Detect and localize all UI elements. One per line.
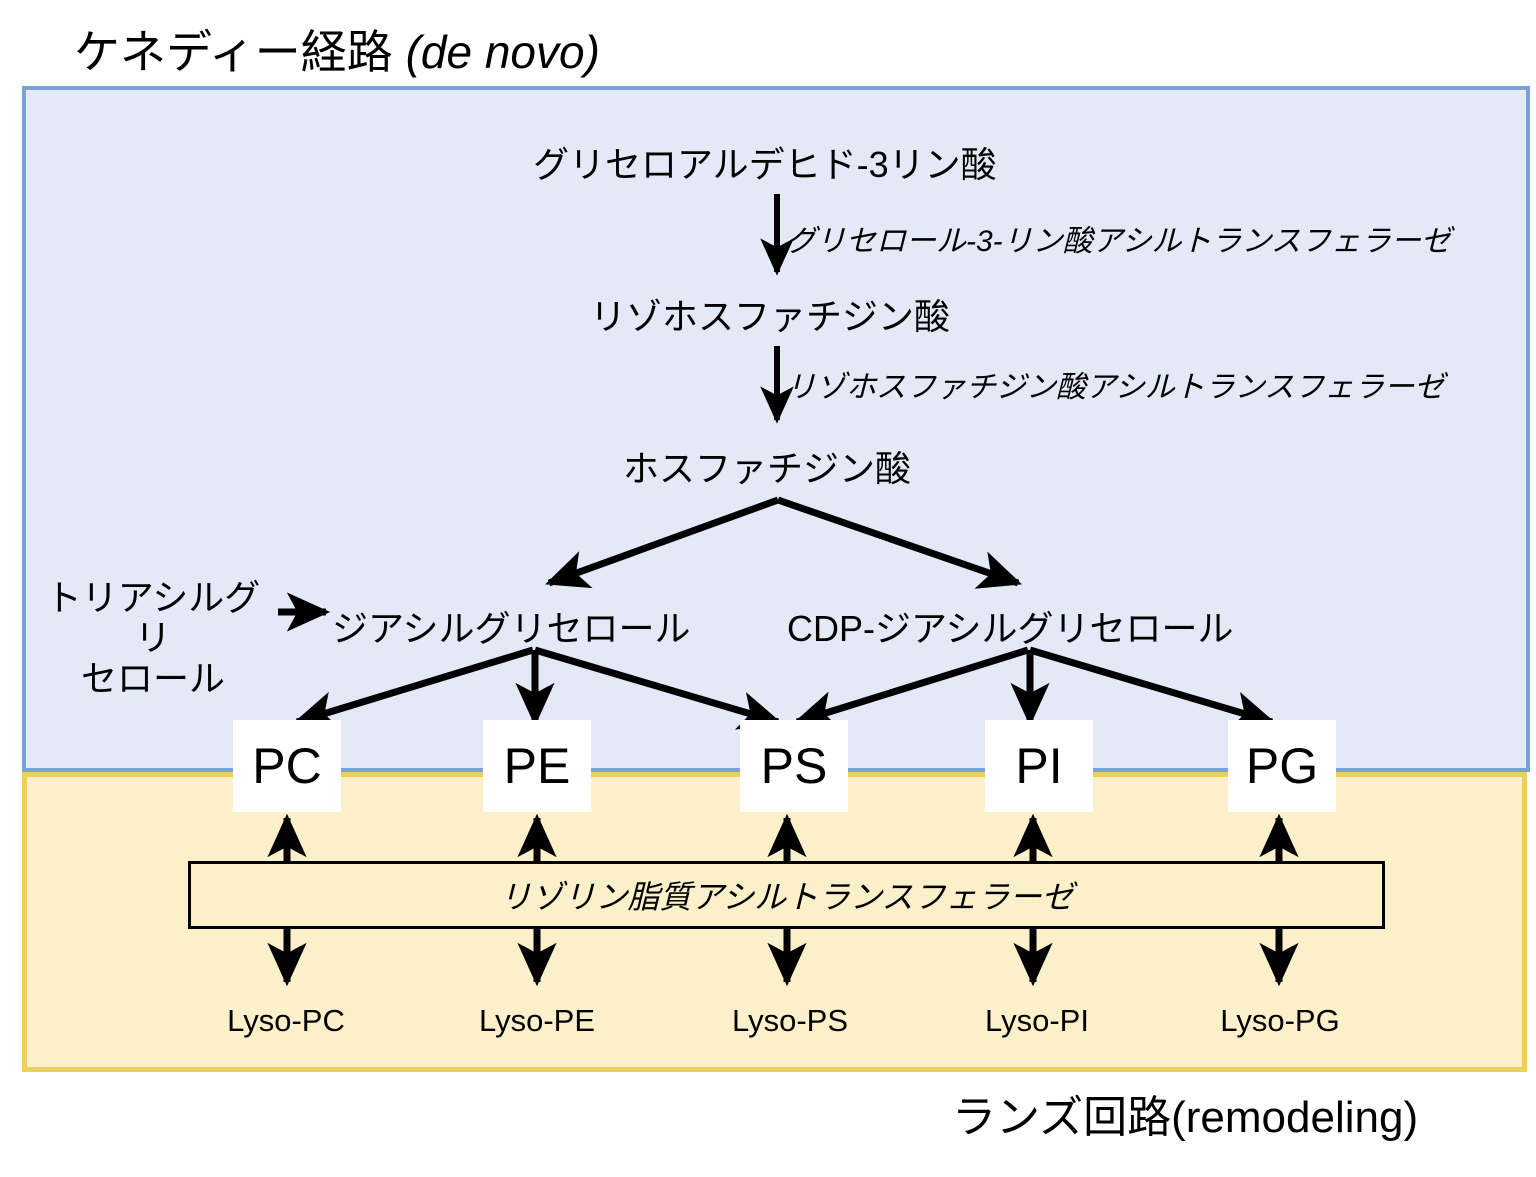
phospholipid-box-pg: PG: [1228, 720, 1336, 812]
metabolite-triacylglycerol: トリアシルグリ セロール: [28, 578, 278, 699]
metabolite-lyso-pe: Lyso-PE: [437, 1003, 637, 1039]
metabolite-triacylglycerol-line1: トリアシルグリ: [28, 578, 278, 659]
metabolite-lyso-pc: Lyso-PC: [186, 1003, 386, 1039]
metabolite-phosphatidic-acid: ホスファチジン酸: [623, 440, 911, 492]
enzyme-box-lplat: リゾリン脂質アシルトランスフェラーゼ: [188, 861, 1385, 929]
kennedy-pathway-title: ケネディー経路 (de novo): [74, 16, 600, 82]
metabolite-glyceraldehyde-3-phosphate: グリセロアルデヒド-3リン酸: [533, 136, 997, 188]
metabolite-lyso-pg: Lyso-PG: [1180, 1003, 1380, 1039]
metabolite-lyso-pi: Lyso-PI: [937, 1003, 1137, 1039]
metabolite-lysophosphatidic-acid: リゾホスファチジン酸: [590, 288, 950, 340]
phospholipid-box-pi: PI: [985, 720, 1093, 812]
metabolite-diacylglycerol: ジアシルグリセロール: [332, 600, 691, 652]
metabolite-triacylglycerol-line2: セロール: [28, 659, 278, 699]
enzyme-gpat-label: グリセロール-3-リン酸アシルトランスフェラーゼ: [786, 216, 1451, 260]
kennedy-pathway-title-main: ケネディー経路: [74, 26, 406, 78]
pathway-diagram: ケネディー経路 (de novo): [0, 0, 1536, 1177]
lands-cycle-title: ランズ回路(remodeling): [952, 1081, 1418, 1145]
phospholipid-box-pe: PE: [483, 720, 591, 812]
phospholipid-box-ps: PS: [740, 720, 848, 812]
enzyme-lpaat-label: リゾホスファチジン酸アシルトランスフェラーゼ: [786, 362, 1444, 406]
phospholipid-box-pc: PC: [233, 720, 341, 812]
metabolite-lyso-ps: Lyso-PS: [690, 1003, 890, 1039]
metabolite-cdp-diacylglycerol: CDP-ジアシルグリセロール: [787, 600, 1234, 652]
kennedy-pathway-title-italic: (de novo): [406, 26, 600, 78]
